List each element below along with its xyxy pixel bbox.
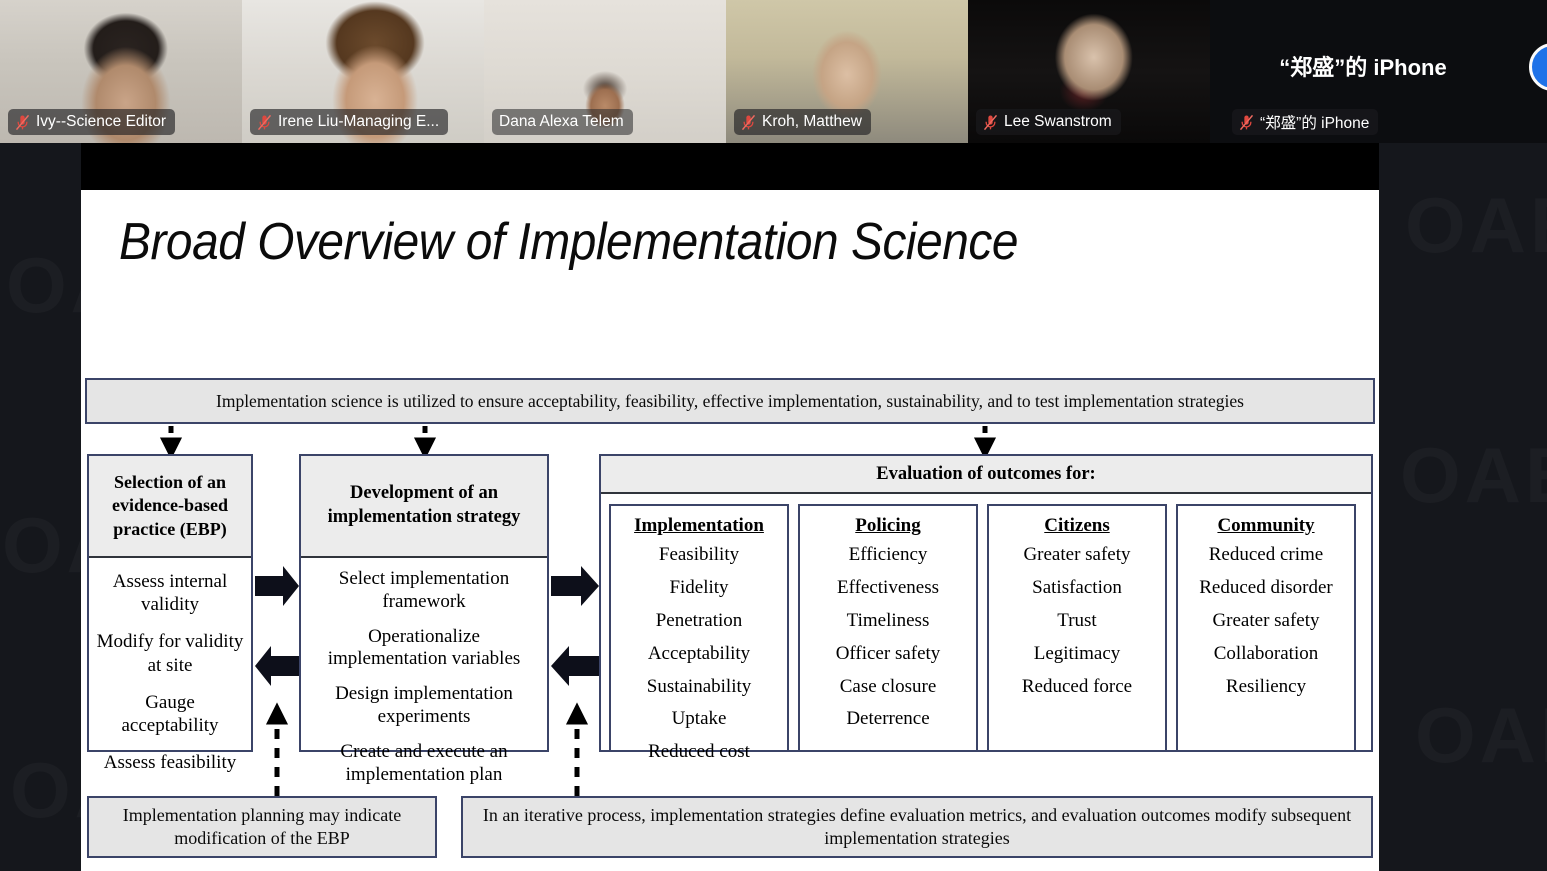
backdrop-watermark: OAE <box>1400 430 1547 521</box>
participant-filmstrip[interactable]: Ivy--Science Editor Irene Liu-Managing E… <box>0 0 1547 143</box>
list-item: Satisfaction <box>993 578 1161 599</box>
bottom-left-text: Implementation planning may indicate mod… <box>89 804 435 851</box>
mic-muted-icon <box>741 114 756 131</box>
participant-name: Ivy--Science Editor <box>36 113 166 131</box>
self-device-name: “郑盛”的 iPhone <box>1210 50 1516 82</box>
diagram-box-header: Development of an implementation strateg… <box>301 456 547 558</box>
list-item: Collaboration <box>1182 644 1350 665</box>
participant-nameplate: Ivy--Science Editor <box>8 109 175 135</box>
diagram-banner-text: Implementation science is utilized to en… <box>216 391 1244 412</box>
column-item-list: Greater safety Satisfaction Trust Legiti… <box>993 545 1161 697</box>
col1-header-text: Selection of an evidence-based practice … <box>89 471 251 540</box>
implementation-science-diagram: Implementation science is utilized to en… <box>85 378 1375 868</box>
evaluation-column-citizens: Citizens Greater safety Satisfaction Tru… <box>987 504 1167 752</box>
participant-tile-dana[interactable]: Dana Alexa Telem <box>484 0 726 143</box>
backdrop-watermark: OAE <box>1405 180 1547 271</box>
chevron-right-icon <box>1543 57 1547 77</box>
backdrop-watermark: OAE <box>1415 690 1547 781</box>
column-title: Community <box>1217 515 1314 537</box>
participant-tile-lee[interactable]: Lee Swanstrom <box>968 0 1210 143</box>
diagram-box-bottom-right: In an iterative process, implementation … <box>461 796 1373 858</box>
mic-muted-icon <box>983 114 998 131</box>
list-item: Assess internal validity <box>95 570 245 616</box>
list-item: Reduced cost <box>615 742 783 763</box>
list-item: Case closure <box>804 677 972 698</box>
bottom-right-text: In an iterative process, implementation … <box>463 804 1371 851</box>
list-item: Trust <box>993 611 1161 632</box>
participant-tile-irene[interactable]: Irene Liu-Managing E... <box>242 0 484 143</box>
list-item: Penetration <box>615 611 783 632</box>
app-root: OAE OAE OAE OAE OAE OAE Ivy--Science Edi… <box>0 0 1547 871</box>
slide-letterbox-top <box>81 143 1379 190</box>
slide-content: Broad Overview of Implementation Science <box>81 190 1379 871</box>
next-page-button[interactable] <box>1529 43 1547 91</box>
participant-name: Kroh, Matthew <box>762 113 862 131</box>
evaluation-header: Evaluation of outcomes for: <box>601 456 1371 494</box>
col2-header-text: Development of an implementation strateg… <box>301 482 547 529</box>
list-item: Feasibility <box>615 545 783 566</box>
participant-nameplate: Lee Swanstrom <box>976 109 1121 135</box>
diagram-box-evaluation: Evaluation of outcomes for: Implementati… <box>599 454 1373 752</box>
participant-nameplate: Kroh, Matthew <box>734 109 871 135</box>
diagram-banner: Implementation science is utilized to en… <box>85 378 1375 424</box>
list-item: Select implementation framework <box>309 568 539 614</box>
mic-muted-icon <box>15 114 30 131</box>
filmstrip-right-pad <box>1516 0 1547 143</box>
list-item: Design implementation experiments <box>309 683 539 729</box>
list-item: Effectiveness <box>804 578 972 599</box>
list-item: Resiliency <box>1182 677 1350 698</box>
participant-nameplate: Dana Alexa Telem <box>492 109 633 135</box>
list-item: Reduced force <box>993 677 1161 698</box>
evaluation-header-text: Evaluation of outcomes for: <box>876 464 1095 485</box>
shared-screen-slide[interactable]: Broad Overview of Implementation Science <box>81 143 1379 871</box>
diagram-box-bottom-left: Implementation planning may indicate mod… <box>87 796 437 858</box>
list-item: Deterrence <box>804 709 972 730</box>
evaluation-column-community: Community Reduced crime Reduced disorder… <box>1176 504 1356 752</box>
slide-title: Broad Overview of Implementation Science <box>119 216 1018 268</box>
participant-name: Dana Alexa Telem <box>499 113 624 131</box>
evaluation-columns: Implementation Feasibility Fidelity Pene… <box>601 494 1371 752</box>
column-title: Implementation <box>634 515 764 537</box>
list-item: Assess feasibility <box>95 751 245 774</box>
list-item: Legitimacy <box>993 644 1161 665</box>
participant-tile-self-phone[interactable]: “郑盛”的 iPhone “郑盛”的 iPhone <box>1210 0 1516 143</box>
list-item: Uptake <box>615 709 783 730</box>
list-item: Modify for validity at site <box>95 630 245 676</box>
participant-nameplate: “郑盛”的 iPhone <box>1232 109 1378 135</box>
column-title: Citizens <box>1044 515 1109 537</box>
mic-muted-icon <box>1239 114 1254 131</box>
mic-muted-icon <box>257 114 272 131</box>
col1-item-list: Assess internal validity Modify for vali… <box>89 558 251 774</box>
col2-item-list: Select implementation framework Operatio… <box>301 558 547 786</box>
participant-name: “郑盛”的 iPhone <box>1260 111 1369 133</box>
list-item: Greater safety <box>1182 611 1350 632</box>
participant-nameplate: Irene Liu-Managing E... <box>250 109 448 135</box>
list-item: Greater safety <box>993 545 1161 566</box>
column-item-list: Feasibility Fidelity Penetration Accepta… <box>615 545 783 763</box>
evaluation-column-implementation: Implementation Feasibility Fidelity Pene… <box>609 504 789 752</box>
list-item: Sustainability <box>615 677 783 698</box>
evaluation-column-policing: Policing Efficiency Effectiveness Timeli… <box>798 504 978 752</box>
column-title: Policing <box>855 515 920 537</box>
list-item: Efficiency <box>804 545 972 566</box>
column-item-list: Efficiency Effectiveness Timeliness Offi… <box>804 545 972 730</box>
list-item: Officer safety <box>804 644 972 665</box>
participant-tile-kroh[interactable]: Kroh, Matthew <box>726 0 968 143</box>
list-item: Operationalize implementation variables <box>309 626 539 672</box>
participant-name: Lee Swanstrom <box>1004 113 1112 131</box>
list-item: Reduced crime <box>1182 545 1350 566</box>
column-item-list: Reduced crime Reduced disorder Greater s… <box>1182 545 1350 697</box>
list-item: Create and execute an implementation pla… <box>309 741 539 787</box>
participant-name: Irene Liu-Managing E... <box>278 113 439 131</box>
diagram-box-implementation-strategy: Development of an implementation strateg… <box>299 454 549 752</box>
diagram-box-selection-ebp: Selection of an evidence-based practice … <box>87 454 253 752</box>
list-item: Timeliness <box>804 611 972 632</box>
list-item: Reduced disorder <box>1182 578 1350 599</box>
list-item: Fidelity <box>615 578 783 599</box>
diagram-box-header: Selection of an evidence-based practice … <box>89 456 251 558</box>
list-item: Gauge acceptability <box>95 691 245 737</box>
participant-tile-ivy[interactable]: Ivy--Science Editor <box>0 0 242 143</box>
list-item: Acceptability <box>615 644 783 665</box>
